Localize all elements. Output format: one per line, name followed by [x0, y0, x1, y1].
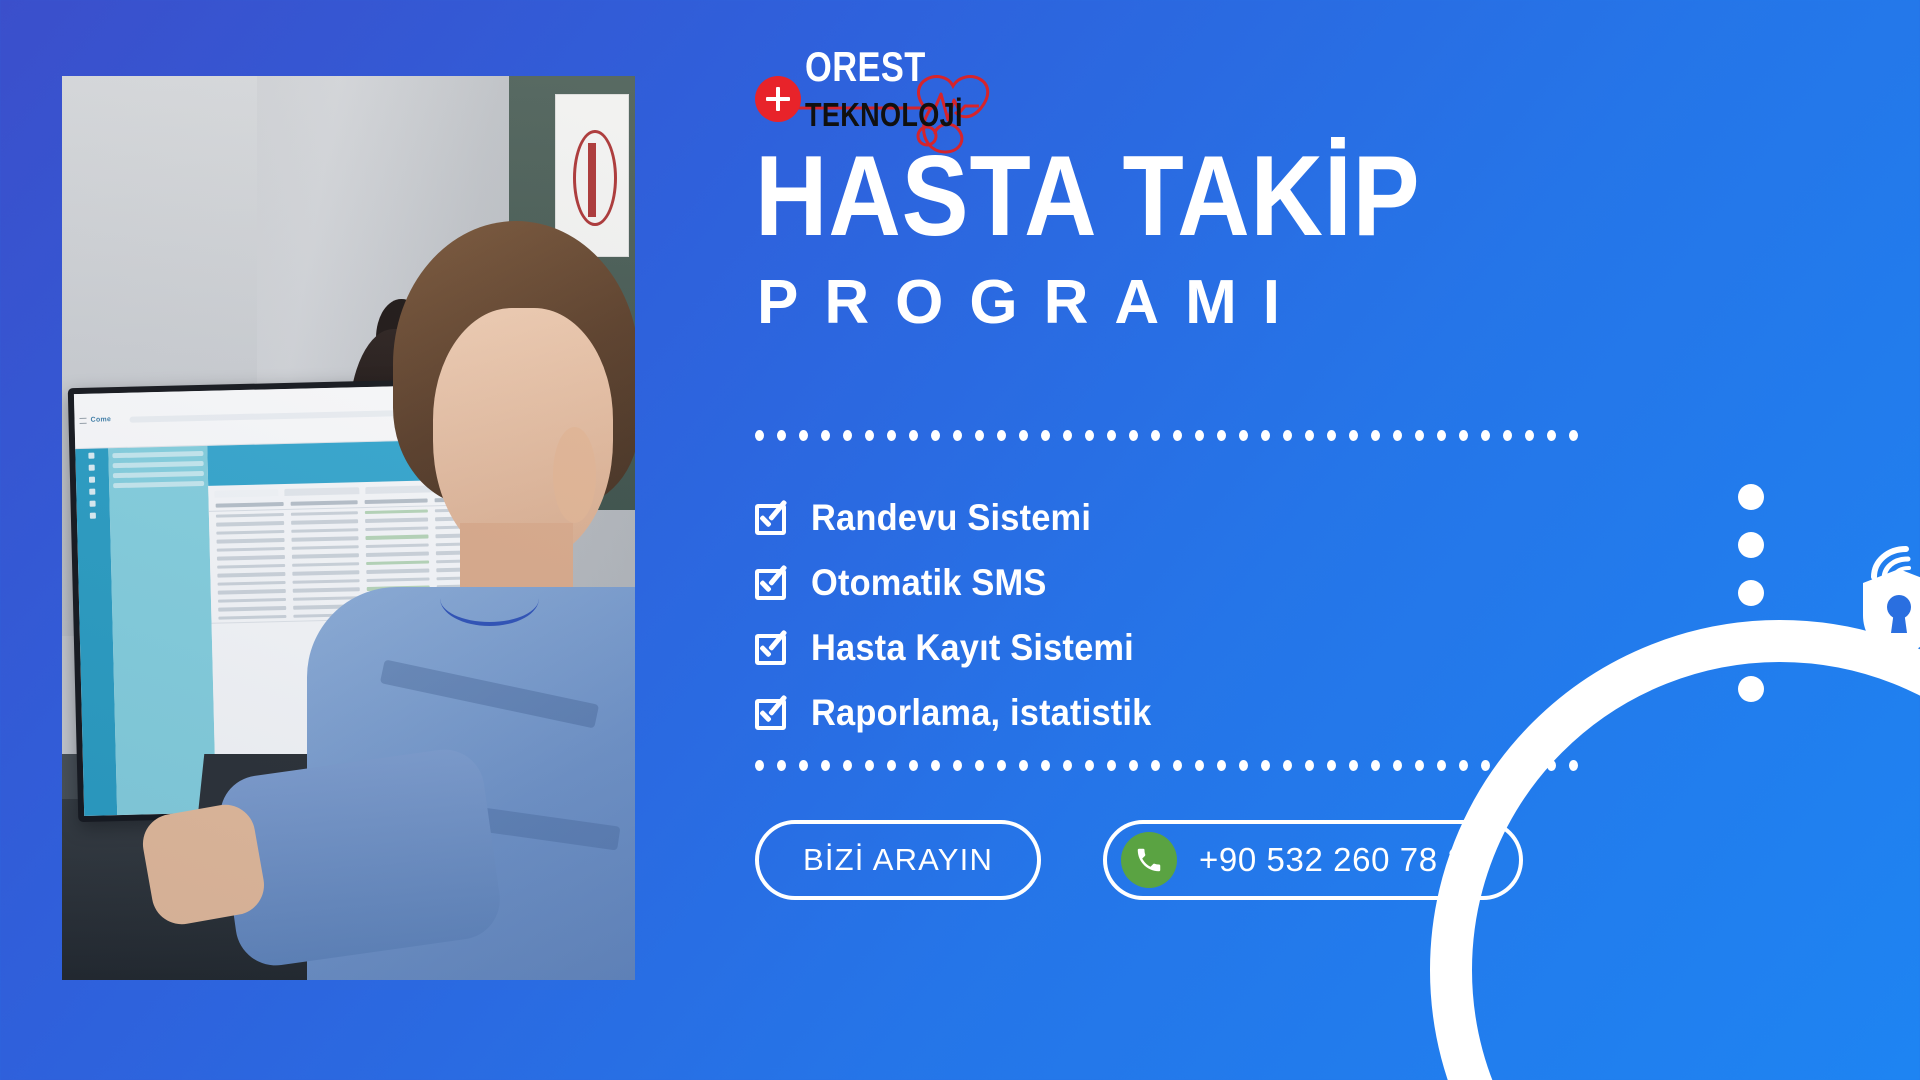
call-us-button[interactable]: BİZİ ARAYIN: [755, 820, 1041, 900]
phone-number-button[interactable]: +90 532 260 78 21: [1103, 820, 1523, 900]
phone-number-text: +90 532 260 78 21: [1199, 841, 1485, 879]
brand-subtitle: TEKNOLOJİ: [805, 98, 963, 131]
feature-item: Raporlama, istatistik: [755, 680, 1177, 745]
checkbox-checked-icon: [755, 631, 789, 665]
checkbox-checked-icon: [755, 501, 789, 535]
feature-label: Hasta Kayıt Sistemi: [811, 627, 1134, 669]
divider-top: [755, 428, 1545, 442]
side-dot-decoration: [1738, 484, 1764, 702]
feature-item: Hasta Kayıt Sistemi: [755, 615, 1177, 680]
hero-photo: Come: [62, 76, 635, 980]
content-column: OREST TEKNOLOJİ HASTA TAKİP PROGRAMI Ran…: [735, 0, 1735, 1080]
feature-item: Otomatik SMS: [755, 550, 1177, 615]
orest-watermark-logo: OREST T e k n o l o j i: [1860, 545, 1920, 665]
brand-name: OREST: [805, 46, 926, 88]
phone-icon: [1121, 832, 1177, 888]
checkbox-checked-icon: [755, 566, 789, 600]
divider-bottom: [755, 758, 1545, 772]
brand-logo: OREST TEKNOLOJİ: [755, 46, 1055, 146]
feature-label: Raporlama, istatistik: [811, 692, 1151, 734]
screen-menu-icon: [80, 418, 87, 424]
photo-nurse: [360, 221, 635, 980]
plus-icon: [755, 76, 801, 122]
feature-label: Otomatik SMS: [811, 562, 1046, 604]
screen-app-logo: Come: [91, 417, 112, 425]
screen-nav-panel: [109, 446, 217, 815]
shield-keyhole-icon: [1860, 567, 1920, 659]
cta-row: BİZİ ARAYIN +90 532 260 78 21: [755, 820, 1523, 900]
feature-label: Randevu Sistemi: [811, 497, 1091, 539]
feature-item: Randevu Sistemi: [755, 485, 1177, 550]
checkbox-checked-icon: [755, 696, 789, 730]
page-title: HASTA TAKİP: [755, 140, 1420, 254]
feature-list: Randevu SistemiOtomatik SMSHasta Kayıt S…: [755, 485, 1177, 745]
page-subtitle: PROGRAMI: [757, 272, 1306, 334]
